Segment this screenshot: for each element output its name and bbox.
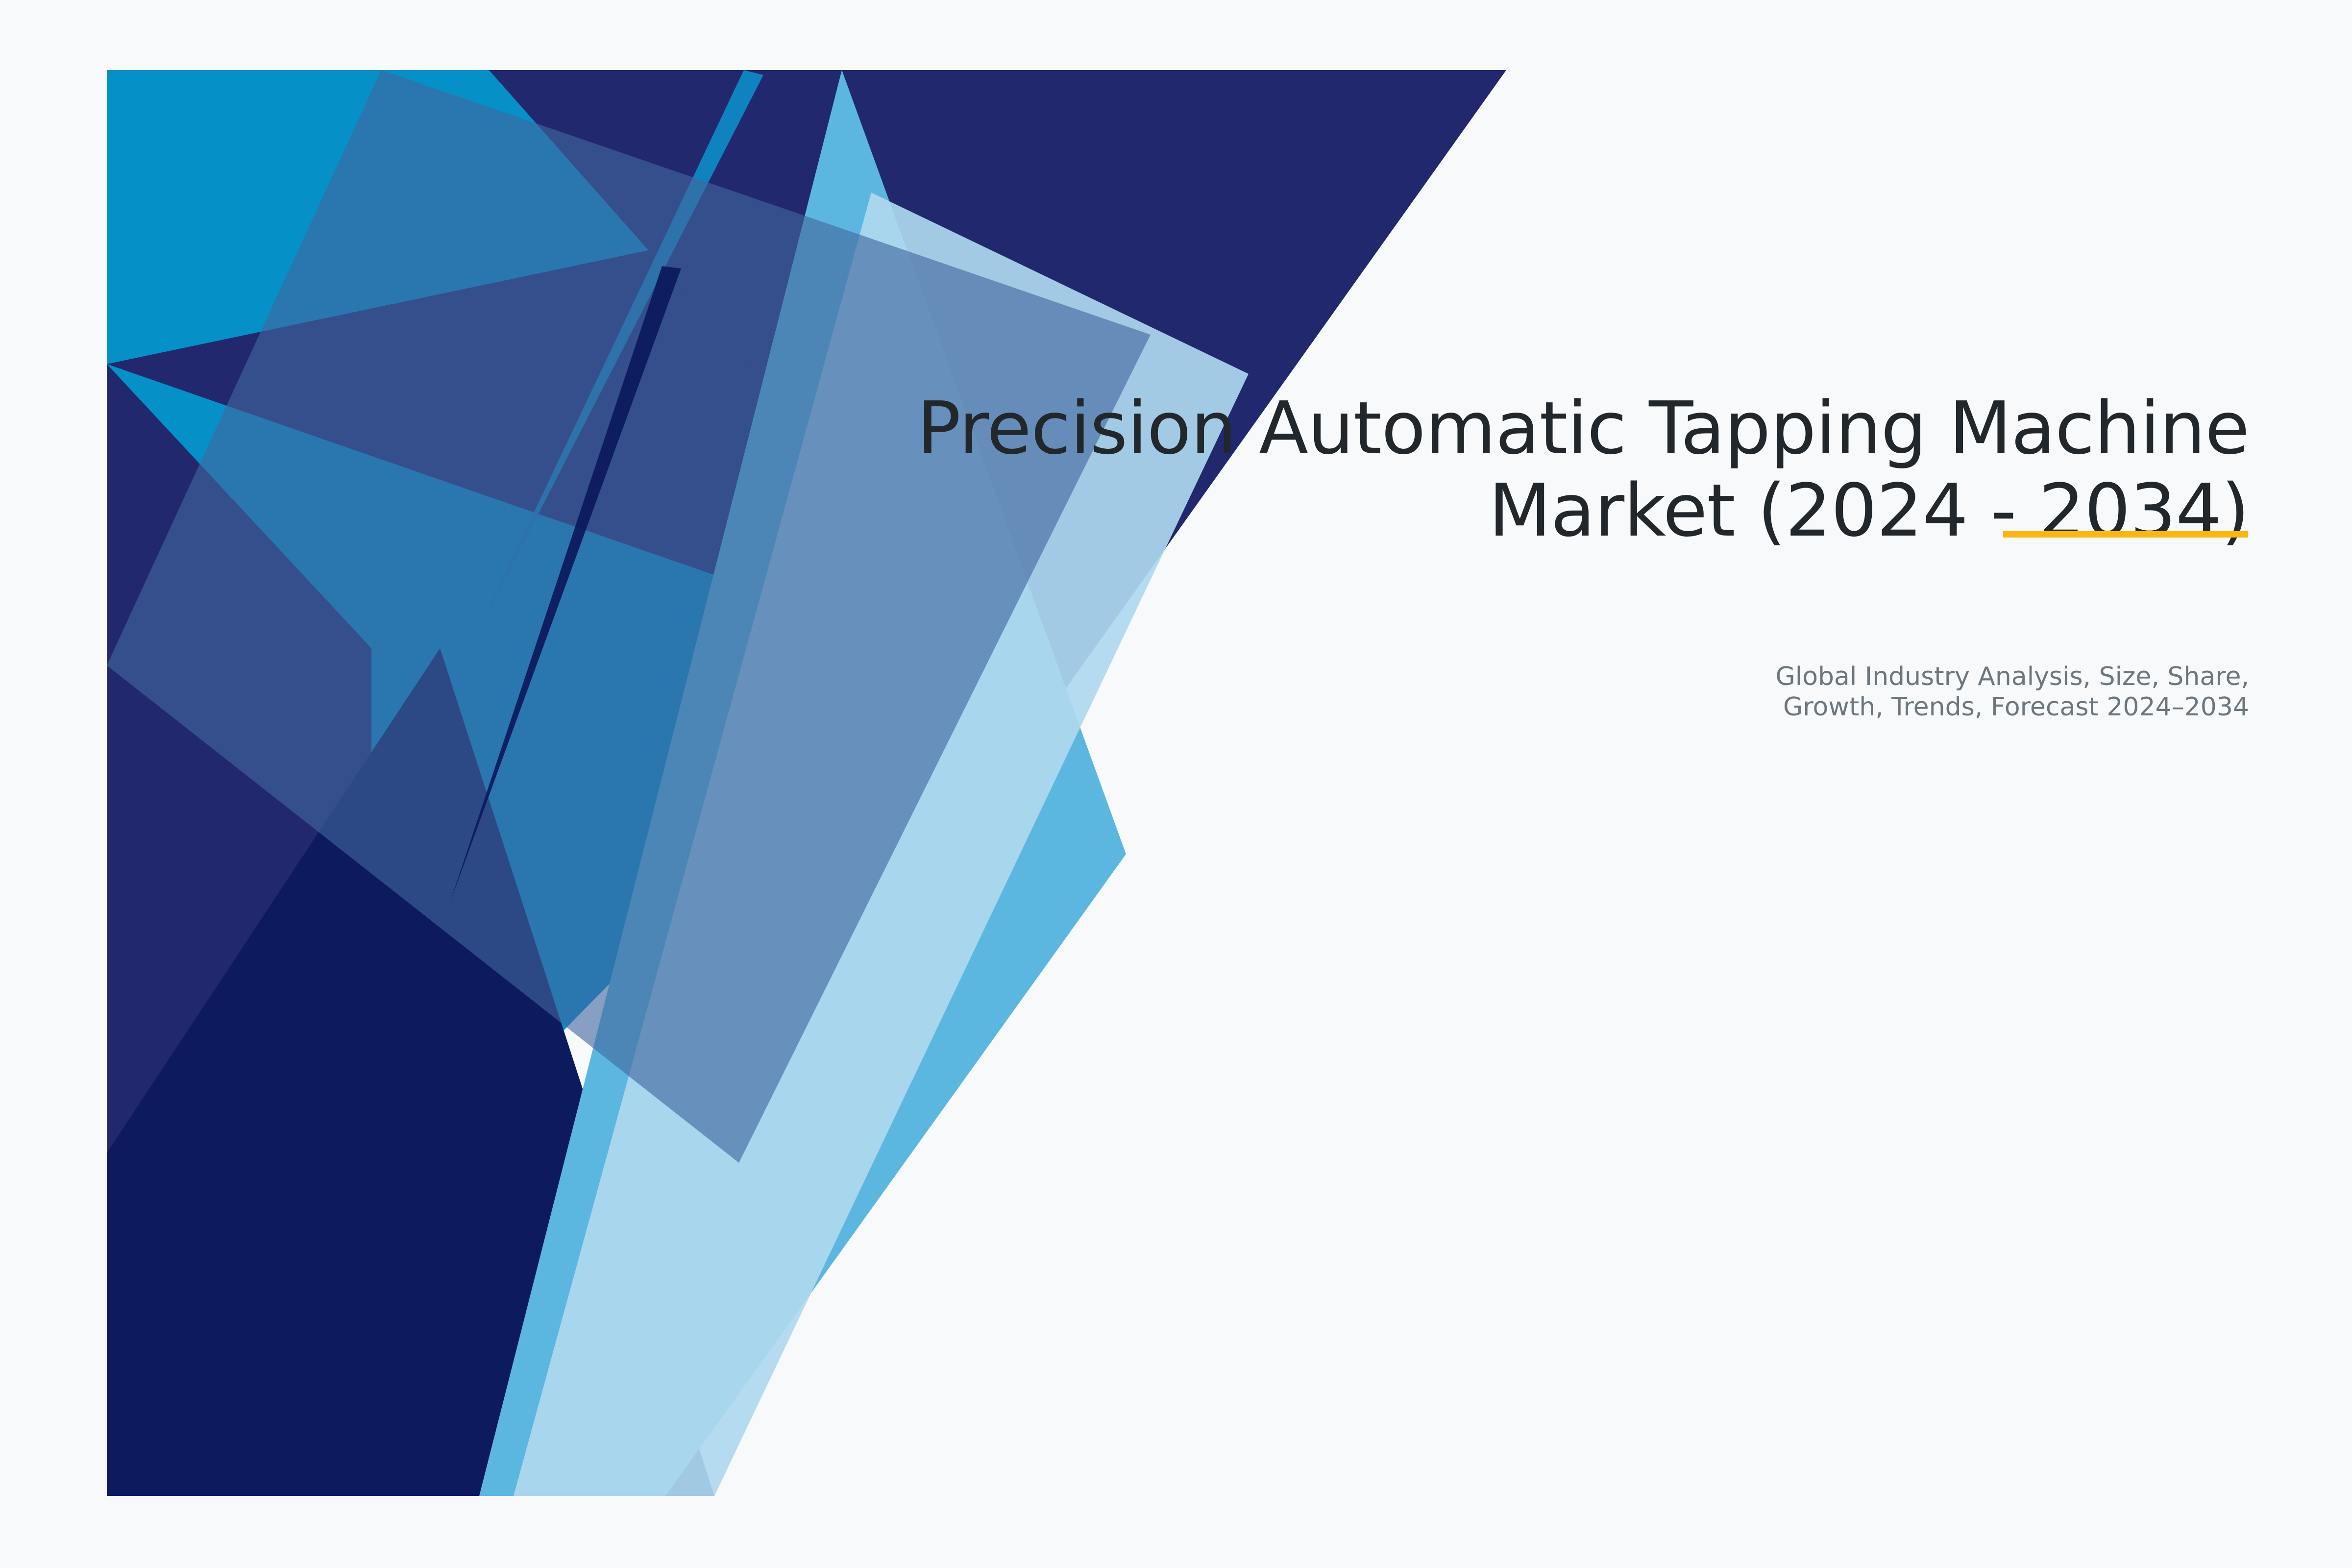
report-cover-page: Precision Automatic Tapping Machine Mark…: [0, 0, 2352, 1568]
page-subtitle: Global Industry Analysis, Size, Share, G…: [784, 661, 2249, 722]
cover-text-block: Precision Automatic Tapping Machine Mark…: [784, 387, 2249, 552]
abstract-polygon-artwork: [107, 70, 1506, 1496]
page-title: Precision Automatic Tapping Machine Mark…: [784, 387, 2249, 552]
artwork-canvas: [107, 70, 1506, 1496]
title-accent-underline: [2003, 531, 2248, 538]
